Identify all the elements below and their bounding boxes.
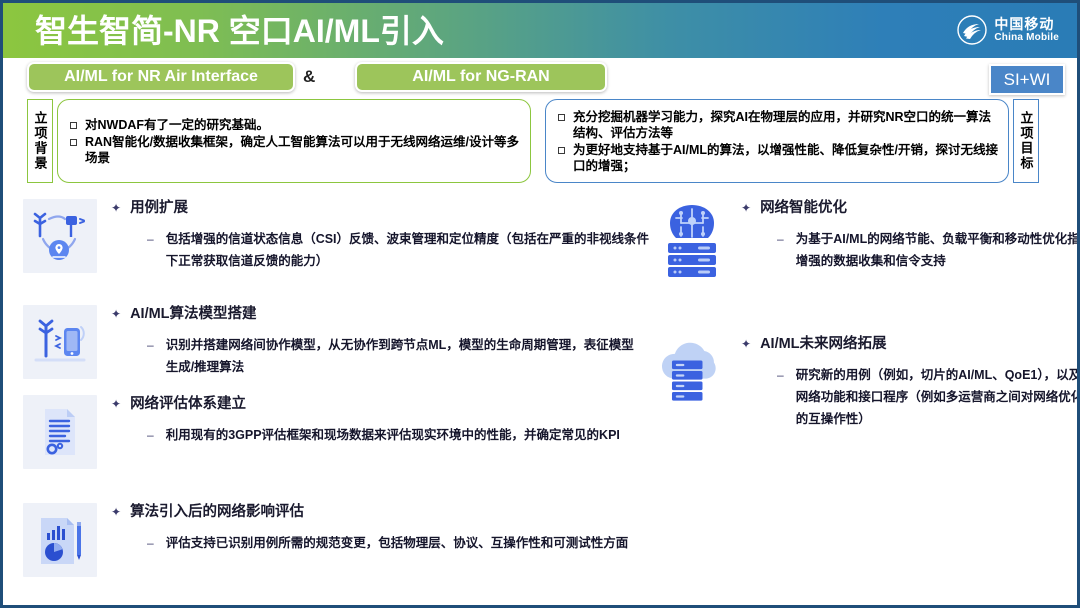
diamond-bullet-icon: ✦ bbox=[111, 503, 121, 521]
content-item-detail-row: – 包括增强的信道状态信息（CSI）反馈、波束管理和定位精度（包括在严重的非视线… bbox=[147, 228, 651, 272]
bullet-item: 对NWDAF有了一定的研究基础。 bbox=[66, 117, 522, 133]
tab-ai-ml-ng-ran[interactable]: AI/ML for NG-RAN bbox=[355, 62, 607, 92]
square-bullet-icon bbox=[558, 147, 565, 154]
tab-row: AI/ML for NR Air Interface & AI/ML for N… bbox=[3, 58, 1077, 98]
square-bullet-icon bbox=[70, 122, 77, 129]
content-item-heading-row: ✦ 网络智能优化 bbox=[741, 199, 1080, 217]
content-item-heading-row: ✦ AI/ML算法模型搭建 bbox=[111, 305, 646, 323]
content-item-detail-row: – 为基于AI/ML的网络节能、负载平衡和移动性优化指定增强的数据收集和信令支持 bbox=[777, 228, 1080, 272]
content-item: ✦ 算法引入后的网络影响评估 – 评估支持已识别用例所需的规范变更，包括物理层、… bbox=[23, 503, 641, 577]
content-item: ✦ 用例扩展 – 包括增强的信道状态信息（CSI）反馈、波束管理和定位精度（包括… bbox=[23, 199, 651, 273]
content-item-heading: 用例扩展 bbox=[130, 199, 188, 217]
content-item-heading-row: ✦ AI/ML未来网络拓展 bbox=[741, 335, 1080, 353]
bullet-text: 充分挖掘机器学习能力，探究AI在物理层的应用，并研究NR空口的统一算法结构、评估… bbox=[573, 109, 1000, 141]
content-item-detail-row: – 研究新的用例（例如，切片的AI/ML、QoE1），以及网络功能和接口程序（例… bbox=[777, 364, 1080, 430]
content-item-heading-row: ✦ 用例扩展 bbox=[111, 199, 651, 217]
content-item: ✦ 网络智能优化 – 为基于AI/ML的网络节能、负载平衡和移动性优化指定增强的… bbox=[651, 199, 1080, 281]
content-item: ✦ AI/ML算法模型搭建 – 识别并搭建网络间协作模型，从无协作到跨节点ML，… bbox=[23, 305, 646, 379]
content-item-heading: AI/ML算法模型搭建 bbox=[130, 305, 256, 323]
bullet-item: RAN智能化/数据收集框架，确定人工智能算法可以用于无线网络运维/设计等多场景 bbox=[66, 134, 522, 166]
content-item-detail: 识别并搭建网络间协作模型，从无协作到跨节点ML，模型的生命周期管理，表征模型生成… bbox=[166, 334, 646, 378]
brain-server-icon bbox=[651, 199, 733, 281]
antenna-location-icon bbox=[23, 199, 97, 273]
content-item-text: ✦ 网络评估体系建立 – 利用现有的3GPP评估框架和现场数据来评估现实环境中的… bbox=[111, 395, 636, 446]
content-item-text: ✦ AI/ML未来网络拓展 – 研究新的用例（例如，切片的AI/ML、QoE1）… bbox=[741, 335, 1080, 430]
content-item: ✦ AI/ML未来网络拓展 – 研究新的用例（例如，切片的AI/ML、QoE1）… bbox=[651, 313, 1080, 430]
info-box-objective: 充分挖掘机器学习能力，探究AI在物理层的应用，并研究NR空口的统一算法结构、评估… bbox=[541, 99, 1039, 183]
content-item-detail: 利用现有的3GPP评估框架和现场数据来评估现实环境中的性能，并确定常见的KPI bbox=[166, 424, 636, 446]
bullet-text: RAN智能化/数据收集框架，确定人工智能算法可以用于无线网络运维/设计等多场景 bbox=[85, 134, 522, 166]
logo-text: 中国移动 China Mobile bbox=[994, 17, 1059, 43]
document-gear-icon bbox=[23, 395, 97, 469]
china-mobile-logo-icon bbox=[957, 15, 987, 45]
slide-header: 智生智简-NR 空口AI/ML引入 中国移动 China Mobile bbox=[3, 3, 1077, 58]
info-box-background-label: 立项背景 bbox=[27, 99, 53, 183]
content-item-heading: 网络智能优化 bbox=[760, 199, 847, 217]
cloud-server-icon bbox=[651, 331, 733, 413]
info-box-objective-body: 充分挖掘机器学习能力，探究AI在物理层的应用，并研究NR空口的统一算法结构、评估… bbox=[545, 99, 1009, 183]
china-mobile-logo: 中国移动 China Mobile bbox=[957, 15, 1059, 45]
tab-ai-ml-nr-air-interface[interactable]: AI/ML for NR Air Interface bbox=[27, 62, 295, 92]
content-item-detail: 评估支持已识别用例所需的规范变更，包括物理层、协议、互操作性和可测试性方面 bbox=[166, 532, 641, 554]
diamond-bullet-icon: ✦ bbox=[741, 335, 751, 353]
dash-bullet-icon: – bbox=[147, 228, 154, 250]
content-item-detail: 研究新的用例（例如，切片的AI/ML、QoE1），以及网络功能和接口程序（例如多… bbox=[796, 364, 1080, 430]
diamond-bullet-icon: ✦ bbox=[111, 395, 121, 413]
content-item-text: ✦ AI/ML算法模型搭建 – 识别并搭建网络间协作模型，从无协作到跨节点ML，… bbox=[111, 305, 646, 378]
status-badge-si-wi: SI+WI bbox=[989, 64, 1065, 95]
info-box-background-body: 对NWDAF有了一定的研究基础。 RAN智能化/数据收集框架，确定人工智能算法可… bbox=[57, 99, 531, 183]
content-item-heading: 算法引入后的网络影响评估 bbox=[130, 503, 304, 521]
bullet-item: 为更好地支持基于AI/ML的算法，以增强性能、降低复杂性/开销，探讨无线接口的增… bbox=[554, 142, 1000, 174]
dash-bullet-icon: – bbox=[147, 532, 154, 554]
report-chart-icon bbox=[23, 503, 97, 577]
content-item-text: ✦ 用例扩展 – 包括增强的信道状态信息（CSI）反馈、波束管理和定位精度（包括… bbox=[111, 199, 651, 272]
content-item-text: ✦ 算法引入后的网络影响评估 – 评估支持已识别用例所需的规范变更，包括物理层、… bbox=[111, 503, 641, 554]
content-item-heading-row: ✦ 网络评估体系建立 bbox=[111, 395, 636, 413]
bullet-text: 为更好地支持基于AI/ML的算法，以增强性能、降低复杂性/开销，探讨无线接口的增… bbox=[573, 142, 1000, 174]
content-item-heading: AI/ML未来网络拓展 bbox=[760, 335, 886, 353]
bullet-text: 对NWDAF有了一定的研究基础。 bbox=[85, 117, 269, 133]
dash-bullet-icon: – bbox=[777, 228, 784, 250]
diamond-bullet-icon: ✦ bbox=[741, 199, 751, 217]
content-item-detail: 为基于AI/ML的网络节能、负载平衡和移动性优化指定增强的数据收集和信令支持 bbox=[796, 228, 1080, 272]
info-box-background: 立项背景 对NWDAF有了一定的研究基础。 RAN智能化/数据收集框架，确定人工… bbox=[27, 99, 535, 183]
content-item: ✦ 网络评估体系建立 – 利用现有的3GPP评估框架和现场数据来评估现实环境中的… bbox=[23, 395, 636, 469]
content-item-detail-row: – 识别并搭建网络间协作模型，从无协作到跨节点ML，模型的生命周期管理，表征模型… bbox=[147, 334, 646, 378]
content-item-detail: 包括增强的信道状态信息（CSI）反馈、波束管理和定位精度（包括在严重的非视线条件… bbox=[166, 228, 651, 272]
content-item-text: ✦ 网络智能优化 – 为基于AI/ML的网络节能、负载平衡和移动性优化指定增强的… bbox=[741, 199, 1080, 272]
content-item-detail-row: – 评估支持已识别用例所需的规范变更，包括物理层、协议、互操作性和可测试性方面 bbox=[147, 532, 641, 554]
info-box-objective-label: 立项目标 bbox=[1013, 99, 1039, 183]
square-bullet-icon bbox=[70, 139, 77, 146]
logo-text-en: China Mobile bbox=[994, 33, 1059, 43]
bullet-item: 充分挖掘机器学习能力，探究AI在物理层的应用，并研究NR空口的统一算法结构、评估… bbox=[554, 109, 1000, 141]
content-item-detail-row: – 利用现有的3GPP评估框架和现场数据来评估现实环境中的性能，并确定常见的KP… bbox=[147, 424, 636, 446]
antenna-phone-icon bbox=[23, 305, 97, 379]
content-item-heading: 网络评估体系建立 bbox=[130, 395, 246, 413]
slide-canvas: 智生智简-NR 空口AI/ML引入 中国移动 China Mobile AI/M… bbox=[0, 0, 1080, 608]
dash-bullet-icon: – bbox=[147, 424, 154, 446]
dash-bullet-icon: – bbox=[777, 364, 784, 386]
diamond-bullet-icon: ✦ bbox=[111, 199, 121, 217]
square-bullet-icon bbox=[558, 114, 565, 121]
diamond-bullet-icon: ✦ bbox=[111, 305, 121, 323]
dash-bullet-icon: – bbox=[147, 334, 154, 356]
tab-separator-ampersand: & bbox=[303, 67, 315, 87]
page-title: 智生智简-NR 空口AI/ML引入 bbox=[35, 7, 444, 55]
logo-text-cn: 中国移动 bbox=[994, 17, 1059, 31]
content-item-heading-row: ✦ 算法引入后的网络影响评估 bbox=[111, 503, 641, 521]
